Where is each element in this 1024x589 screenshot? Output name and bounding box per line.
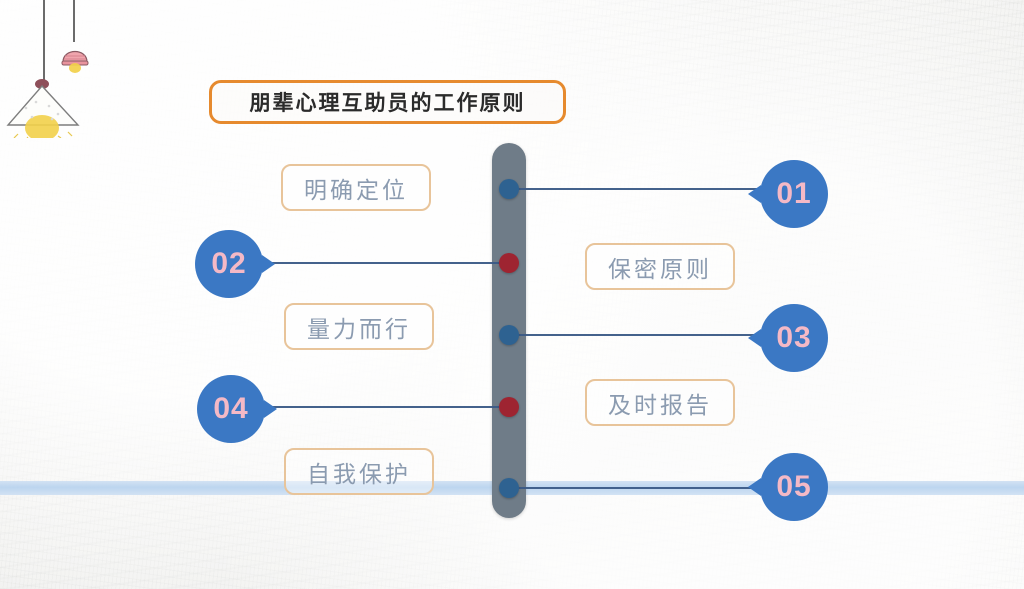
slide-title-box: 朋辈心理互助员的工作原则: [209, 80, 566, 124]
principle-label-3: 量力而行: [307, 310, 411, 344]
pendant-lamp-dome-icon: [52, 0, 98, 80]
node-dot-1: [499, 179, 519, 199]
principle-label-1: 明确定位: [304, 171, 408, 205]
principle-number-1: 01: [776, 179, 811, 209]
principle-label-box-1: 明确定位: [281, 164, 431, 211]
connector-line-1: [512, 188, 762, 190]
principle-label-5: 自我保护: [307, 455, 411, 489]
connector-line-5: [512, 487, 762, 489]
page-title: 朋辈心理互助员的工作原则: [250, 87, 526, 117]
principle-label-box-5: 自我保护: [284, 448, 434, 495]
connector-line-3: [512, 334, 762, 336]
connector-line-2: [258, 262, 510, 264]
principle-badge-2[interactable]: 02: [195, 230, 263, 298]
principle-label-box-3: 量力而行: [284, 303, 434, 350]
principle-number-3: 03: [776, 323, 811, 353]
node-dot-5: [499, 478, 519, 498]
principle-label-2: 保密原则: [608, 250, 712, 284]
principle-label-box-4: 及时报告: [585, 379, 735, 426]
principle-badge-4[interactable]: 04: [197, 375, 265, 443]
node-dot-2: [499, 253, 519, 273]
principle-badge-1[interactable]: 01: [760, 160, 828, 228]
slide-canvas: 朋辈心理互助员的工作原则 明确定位 01 02 保密原则 量力而行 03 04 …: [0, 0, 1024, 589]
principle-number-2: 02: [211, 249, 246, 279]
principle-badge-3[interactable]: 03: [760, 304, 828, 372]
connector-line-4: [260, 406, 510, 408]
principle-label-box-2: 保密原则: [585, 243, 735, 290]
node-dot-4: [499, 397, 519, 417]
principle-badge-5[interactable]: 05: [760, 453, 828, 521]
principle-label-4: 及时报告: [608, 386, 712, 420]
principle-number-4: 04: [213, 394, 248, 424]
principle-number-5: 05: [776, 472, 811, 502]
node-dot-3: [499, 325, 519, 345]
